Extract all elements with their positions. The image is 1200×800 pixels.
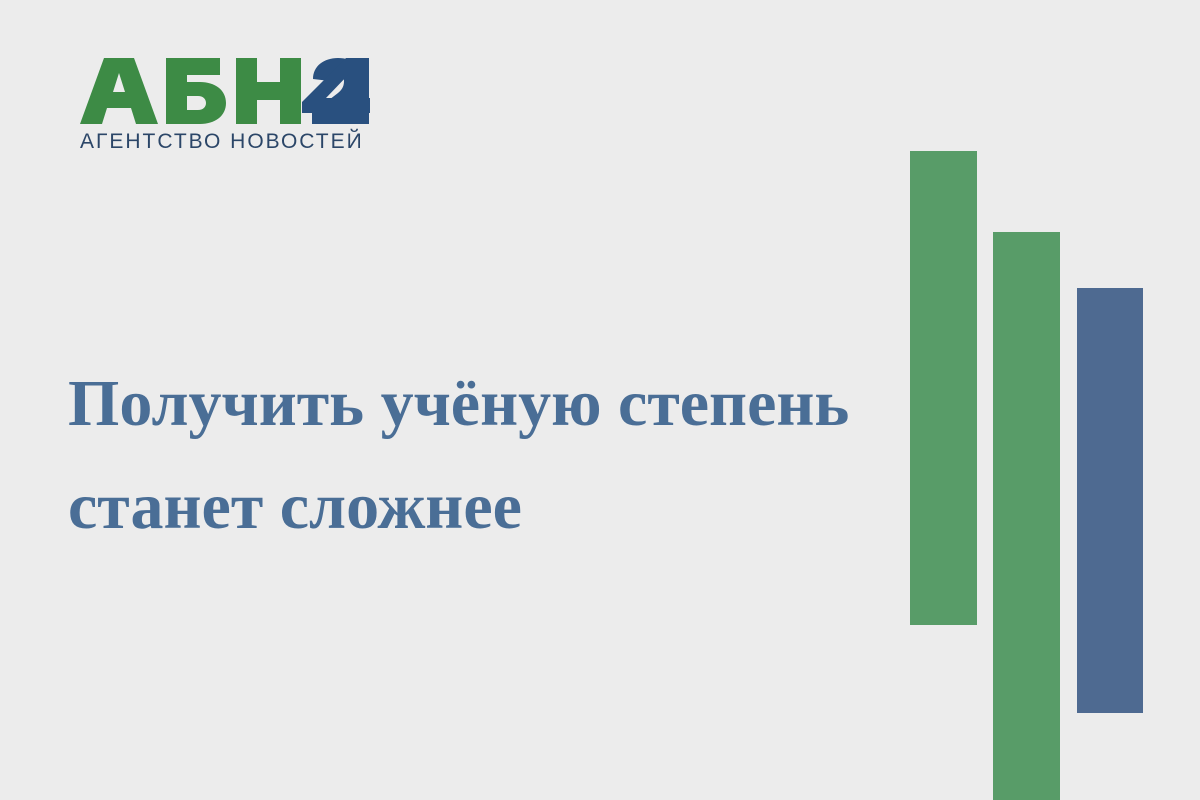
- abn24-wordmark-icon: [80, 58, 380, 124]
- news-card: АГЕНТСТВО НОВОСТЕЙ Получить учёную степе…: [0, 0, 1200, 800]
- chart-bar-1: [910, 151, 977, 625]
- chart-bar-3: [1077, 288, 1143, 713]
- headline: Получить учёную степень станет сложнее: [68, 352, 868, 558]
- brand-logo[interactable]: АГЕНТСТВО НОВОСТЕЙ: [80, 58, 380, 154]
- headline-line-2: станет сложнее: [68, 455, 868, 558]
- logo-tagline: АГЕНТСТВО НОВОСТЕЙ: [80, 130, 380, 154]
- chart-bar-2: [993, 232, 1060, 800]
- headline-line-1: Получить учёную степень: [68, 352, 868, 455]
